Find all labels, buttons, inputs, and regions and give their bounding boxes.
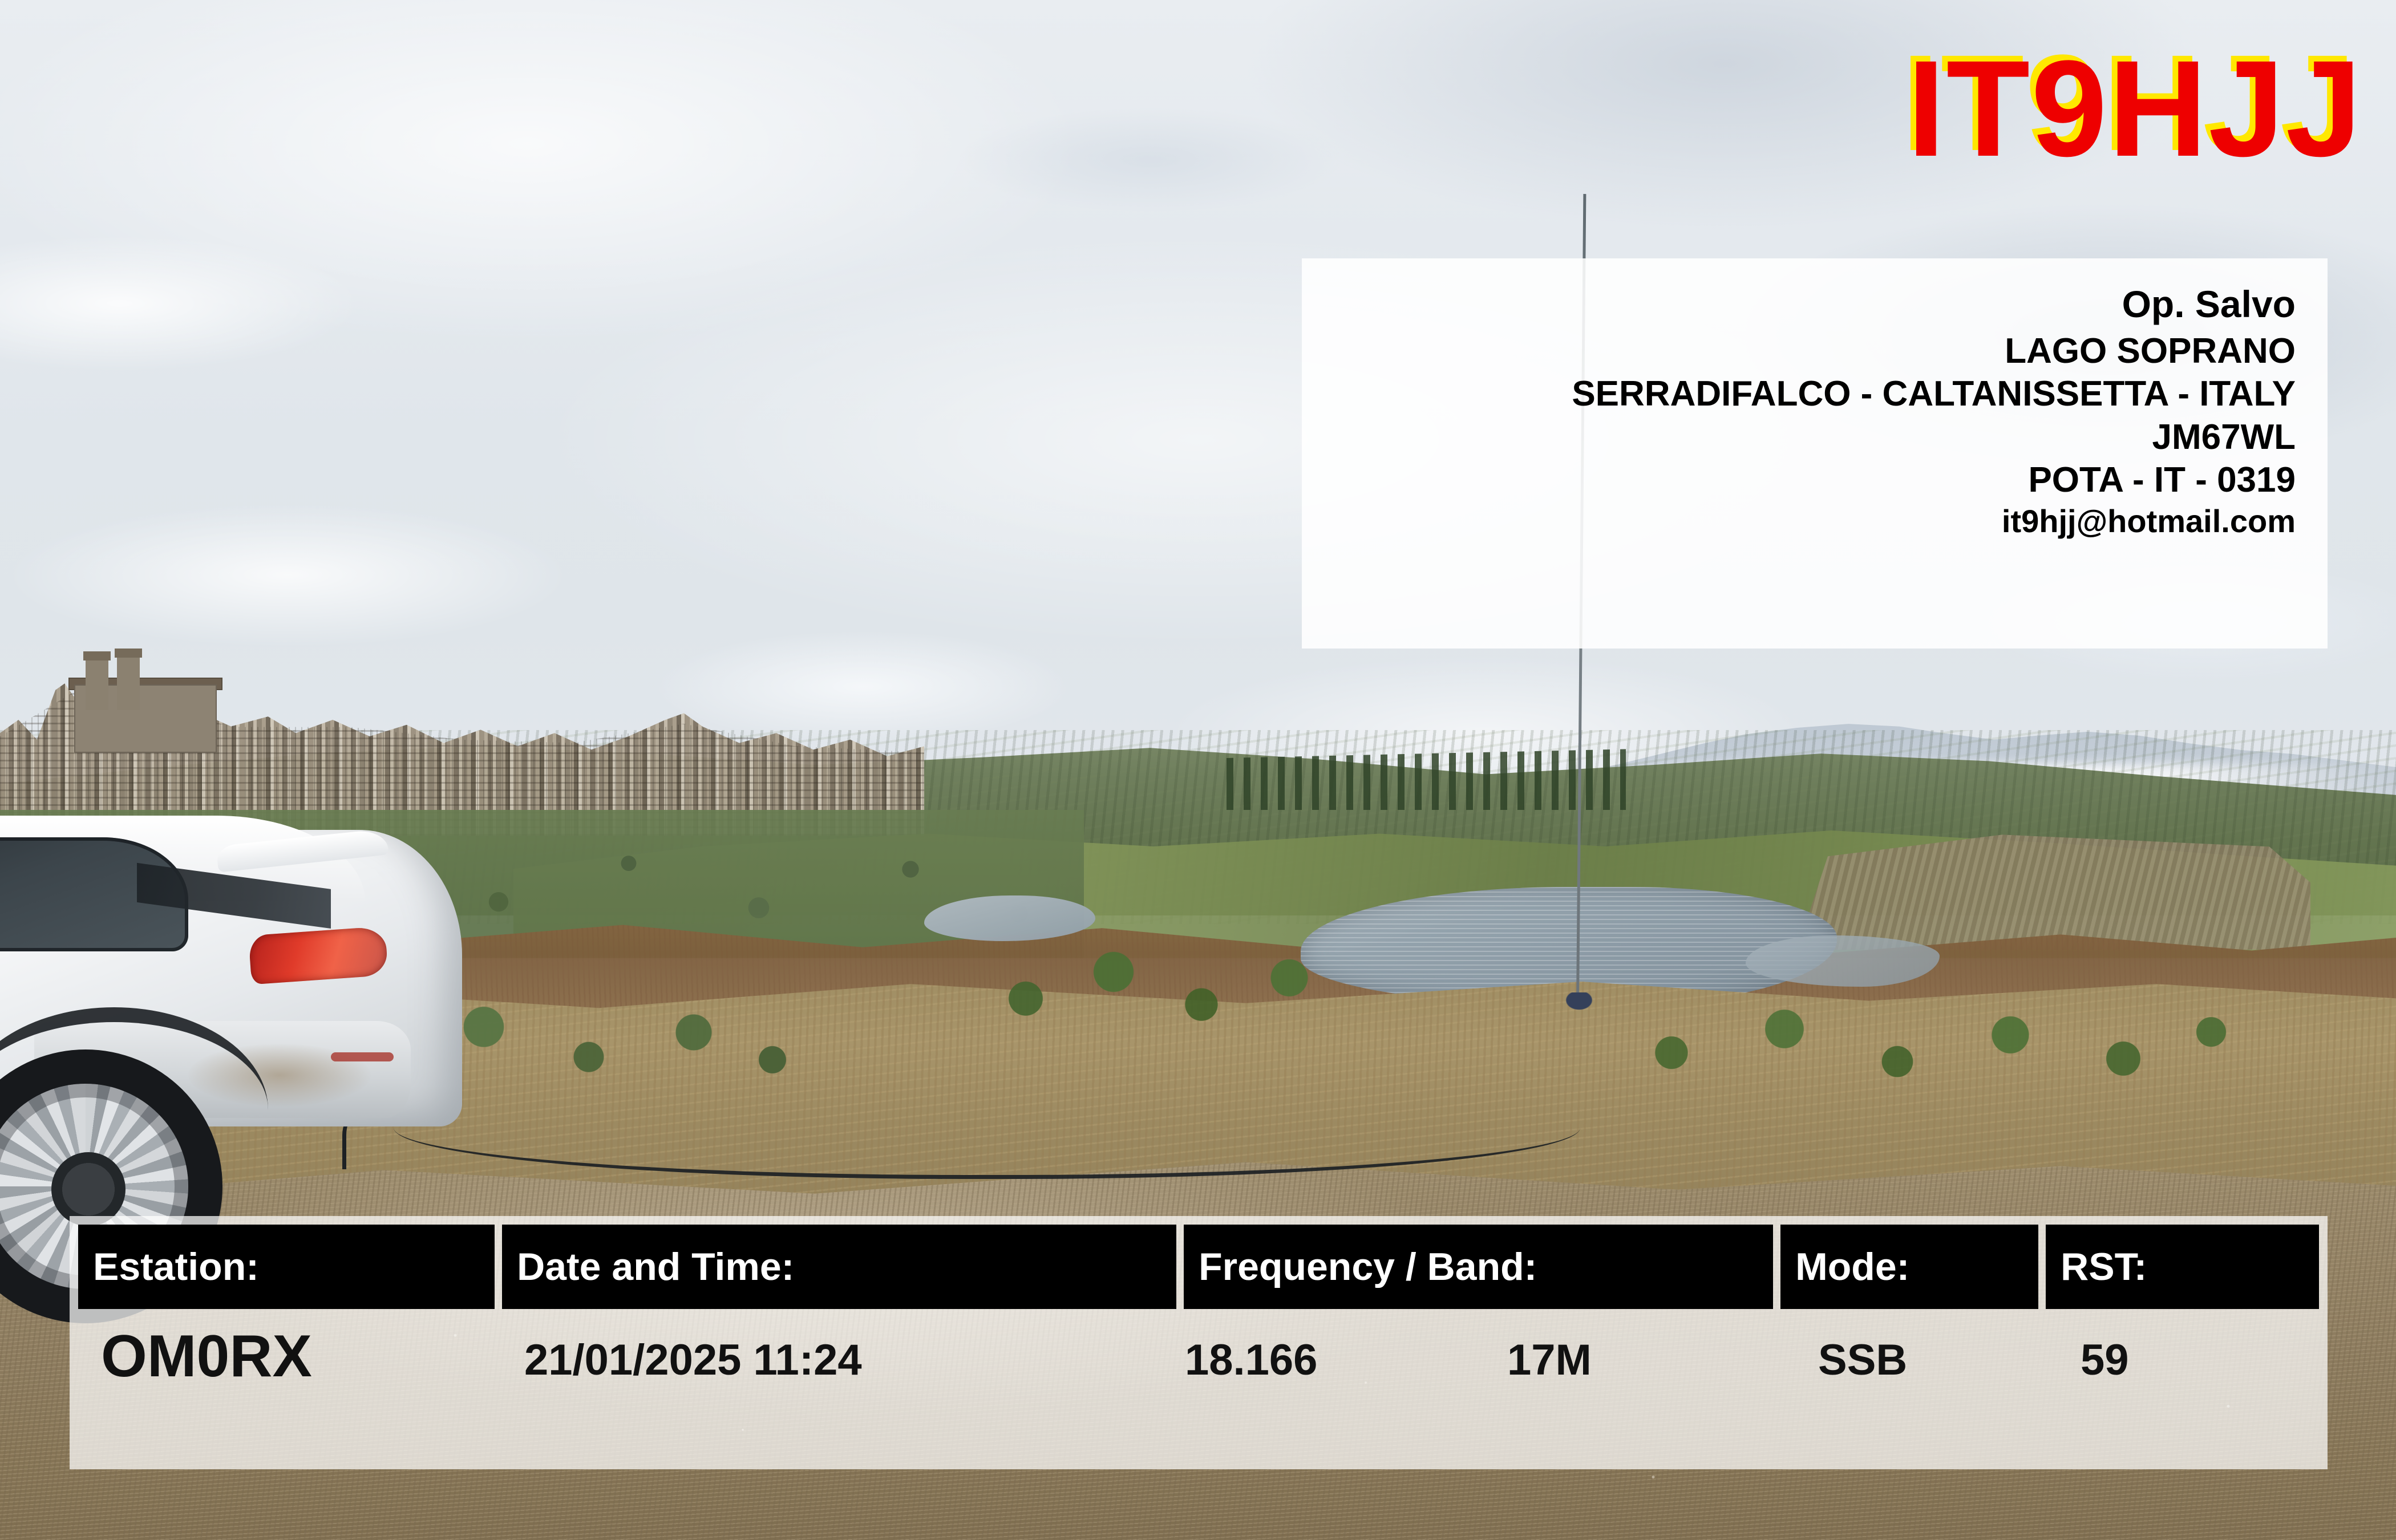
qso-data-panel: Estation: Date and Time: Frequency / Ban… [70, 1216, 2328, 1469]
qsl-card: IT9HJJ Op. Salvo LAGO SOPRANO SERRADIFAL… [0, 0, 2396, 1540]
location-name: LAGO SOPRANO [1302, 330, 2296, 373]
grid-locator: JM67WL [1302, 416, 2296, 459]
value-mode: SSB [1818, 1335, 1907, 1385]
church-tower-cap-left [83, 651, 111, 660]
callsign-block: IT9HJJ [1907, 40, 2363, 177]
value-band: 17M [1507, 1335, 1592, 1385]
car-wheel-hub [51, 1152, 126, 1226]
qso-table-value-row: OM0RX 21/01/2025 11:24 18.166 17M SSB 59 [78, 1327, 2319, 1419]
value-frequency: 18.166 [1185, 1335, 1317, 1385]
header-estation: Estation: [78, 1225, 495, 1309]
station-info-box: Op. Salvo LAGO SOPRANO SERRADIFALCO - CA… [1302, 258, 2328, 649]
park-reference: POTA - IT - 0319 [1302, 459, 2296, 502]
header-rst: RST: [2046, 1225, 2319, 1309]
scrub-bushes-right [1609, 970, 2236, 1118]
header-frequency: Frequency / Band: [1184, 1225, 1773, 1309]
region-line: SERRADIFALCO - CALTANISSETTA - ITALY [1302, 372, 2296, 416]
email-address: it9hjj@hotmail.com [1302, 502, 2296, 541]
header-mode: Mode: [1780, 1225, 2038, 1309]
coax-cable [394, 1072, 1580, 1179]
callsign-text: IT9HJJ [1907, 40, 2363, 177]
operator-name: Op. Salvo [1302, 281, 2296, 327]
header-datetime: Date and Time: [502, 1225, 1176, 1309]
car-bumper-reflector [331, 1052, 394, 1061]
qso-table-header-row: Estation: Date and Time: Frequency / Ban… [78, 1225, 2319, 1309]
church-tower-right [117, 656, 140, 710]
car-taillight [248, 926, 388, 985]
value-estation: OM0RX [101, 1323, 312, 1391]
church-tower-left [86, 659, 108, 710]
value-rst: 59 [2081, 1335, 2129, 1385]
scrub-bushes-middle [970, 913, 1369, 1061]
antenna-base [1563, 992, 1595, 1012]
value-datetime: 21/01/2025 11:24 [524, 1335, 862, 1385]
church-tower-cap-right [115, 649, 142, 658]
